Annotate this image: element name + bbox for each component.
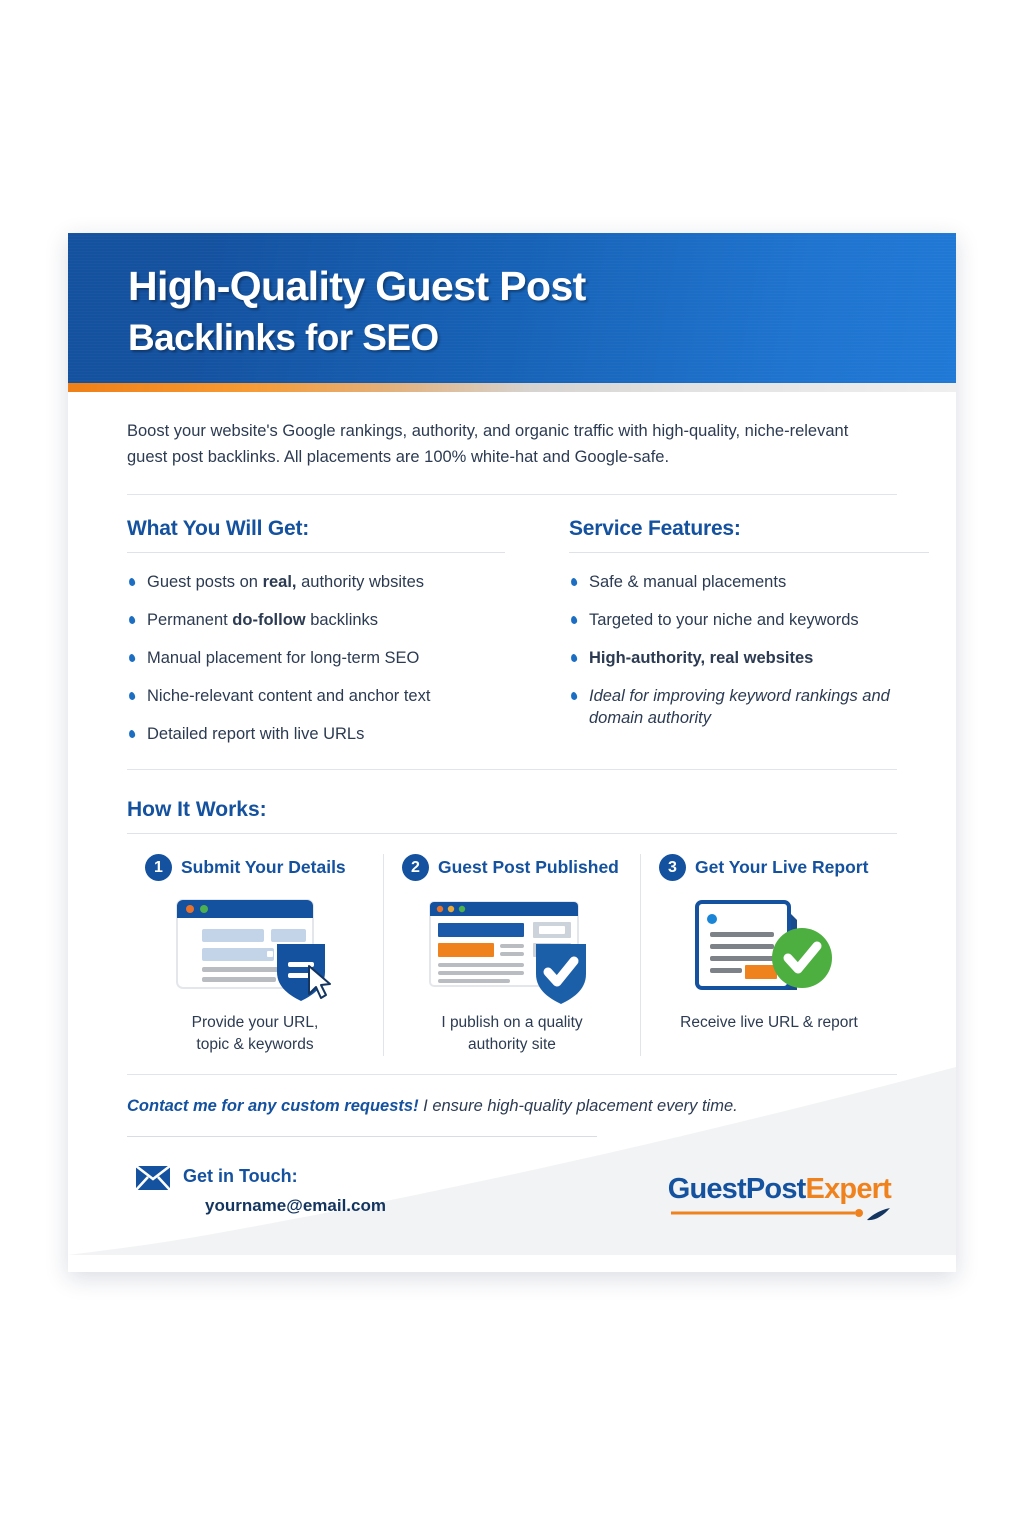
what-you-get-title-rule [127, 552, 505, 553]
bullet-icon [570, 615, 578, 624]
step-3-caption: Receive live URL & report [651, 1012, 887, 1034]
bullet-icon [128, 653, 136, 662]
list-item: High-authority, real websites [569, 647, 929, 669]
features-columns: What You Will Get: Guest posts on real, … [127, 517, 897, 745]
service-features-column: Service Features: Safe & manual placemen… [535, 517, 929, 745]
title-line-2: Backlinks for SEO [128, 312, 586, 364]
what-you-get-column: What You Will Get: Guest posts on real, … [127, 517, 535, 745]
document-green-check-icon [677, 892, 862, 1004]
get-in-touch-block: Get in Touch: yourname@email.com [135, 1165, 386, 1216]
list-item: Niche-relevant content and anchor text [127, 685, 505, 707]
step-1-caption-line-1: Provide your URL, [137, 1012, 373, 1034]
list-item: Ideal for improving keyword rankings and… [569, 685, 929, 729]
header-banner: High-Quality Guest Post Backlinks for SE… [68, 233, 956, 383]
item-text-pre: Detailed report with live URLs [147, 725, 364, 743]
flyer-page: High-Quality Guest Post Backlinks for SE… [0, 0, 1024, 1536]
bullet-icon [128, 615, 136, 624]
contact-divider [127, 1136, 597, 1137]
item-text: High-authority, real websites [589, 649, 813, 667]
item-text-bold: real, [263, 573, 297, 591]
step-2-caption: I publish on a quality authority site [394, 1012, 630, 1056]
what-you-get-list: Guest posts on real, authority wbsites P… [127, 571, 505, 745]
how-it-works-steps: 1 Submit Your Details [127, 854, 897, 1056]
list-item: Guest posts on real, authority wbsites [127, 571, 505, 593]
step-2: 2 Guest Post Published [383, 854, 640, 1056]
bullet-icon [128, 577, 136, 586]
step-3: 3 Get Your Live Report [640, 854, 897, 1056]
intro-paragraph: Boost your website's Google rankings, au… [127, 418, 887, 470]
how-it-works-title-rule [127, 833, 897, 834]
step-3-badge: 3 [659, 854, 686, 881]
step-1: 1 Submit Your Details [127, 854, 383, 1056]
browser-form-shield-cursor-icon [163, 892, 348, 1004]
brand-logo-text: GuestPostExpert [668, 1173, 891, 1206]
page-title: High-Quality Guest Post Backlinks for SE… [128, 260, 586, 364]
contact-email[interactable]: yourname@email.com [205, 1196, 386, 1216]
features-divider [127, 769, 897, 770]
bullet-icon [128, 691, 136, 700]
step-3-header: 3 Get Your Live Report [651, 854, 887, 881]
item-text-post: backlinks [306, 611, 378, 629]
bullet-icon [570, 577, 578, 586]
step-3-caption-line-1: Receive live URL & report [651, 1012, 887, 1034]
brand-logo-underline-swoosh-icon [669, 1206, 891, 1226]
footer: Get in Touch: yourname@email.com GuestPo… [127, 1137, 897, 1255]
step-1-badge: 1 [145, 854, 172, 881]
step-3-illustration [651, 892, 887, 1004]
get-in-touch-text: Get in Touch: yourname@email.com [183, 1165, 386, 1216]
service-card: High-Quality Guest Post Backlinks for SE… [68, 233, 956, 1272]
item-text-pre: Permanent [147, 611, 232, 629]
item-text-post: authority wbsites [297, 573, 424, 591]
step-1-name: Submit Your Details [181, 857, 346, 878]
item-text: Safe & manual placements [589, 573, 786, 591]
brand-logo-part-2: Expert [806, 1173, 891, 1205]
item-text-bold: do-follow [232, 611, 305, 629]
title-line-1: High-Quality Guest Post [128, 263, 586, 309]
step-1-caption-line-2: topic & keywords [137, 1034, 373, 1056]
list-item: Safe & manual placements [569, 571, 929, 593]
contact-emphasis: Contact me for any custom requests! [127, 1097, 419, 1115]
browser-article-shield-check-icon [420, 892, 605, 1004]
step-2-illustration [394, 892, 630, 1004]
service-features-title: Service Features: [569, 517, 929, 541]
intro-divider [127, 494, 897, 495]
item-text: Targeted to your niche and keywords [589, 611, 859, 629]
bullet-icon [570, 653, 578, 662]
brand-logo-part-1: GuestPost [668, 1173, 806, 1205]
get-in-touch-label: Get in Touch: [183, 1166, 386, 1187]
service-features-title-rule [569, 552, 929, 553]
item-text: Ideal for improving keyword rankings and… [589, 687, 890, 727]
step-2-caption-line-1: I publish on a quality [394, 1012, 630, 1034]
step-2-caption-line-2: authority site [394, 1034, 630, 1056]
what-you-get-title: What You Will Get: [127, 517, 505, 541]
list-item: Manual placement for long-term SEO [127, 647, 505, 669]
list-item: Targeted to your niche and keywords [569, 609, 929, 631]
step-2-badge: 2 [402, 854, 429, 881]
brand-logo: GuestPostExpert [668, 1173, 891, 1231]
header-accent-bar [68, 383, 956, 392]
item-text-pre: Guest posts on [147, 573, 263, 591]
how-it-works-title: How It Works: [127, 798, 897, 822]
step-1-illustration [137, 892, 373, 1004]
card-body: Boost your website's Google rankings, au… [68, 418, 956, 1255]
item-text-pre: Niche-relevant content and anchor text [147, 687, 430, 705]
step-2-name: Guest Post Published [438, 857, 619, 878]
step-2-header: 2 Guest Post Published [394, 854, 630, 881]
contact-rest: I ensure high-quality placement every ti… [419, 1097, 738, 1115]
envelope-icon [135, 1165, 171, 1191]
step-1-header: 1 Submit Your Details [137, 854, 373, 881]
bullet-icon [128, 729, 136, 738]
item-text-pre: Manual placement for long-term SEO [147, 649, 419, 667]
service-features-list: Safe & manual placements Targeted to you… [569, 571, 929, 729]
contact-callout: Contact me for any custom requests! I en… [127, 1097, 897, 1116]
step-1-caption: Provide your URL, topic & keywords [137, 1012, 373, 1056]
list-item: Permanent do-follow backlinks [127, 609, 505, 631]
list-item: Detailed report with live URLs [127, 723, 505, 745]
bullet-icon [570, 691, 578, 700]
step-3-name: Get Your Live Report [695, 857, 868, 878]
